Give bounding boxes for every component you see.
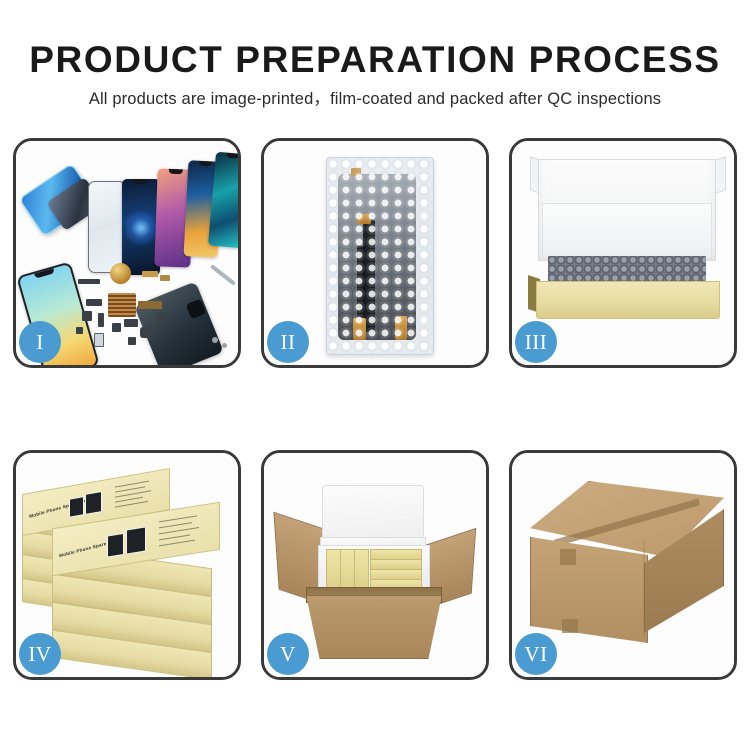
- process-step-panel-2[interactable]: II: [261, 138, 489, 368]
- tape-tab-icon: [560, 549, 576, 565]
- gold-contact-icon: [353, 318, 366, 340]
- step-badge-2: II: [267, 321, 309, 363]
- box-spec-line: [159, 527, 199, 534]
- process-step-panel-6[interactable]: VI: [509, 450, 737, 680]
- component-icon: [86, 299, 102, 306]
- kraft-box-front-icon: [536, 281, 720, 319]
- carton-front-face-icon: [530, 537, 648, 643]
- step-badge-3: III: [515, 321, 557, 363]
- box-screen-thumbnail: [85, 491, 102, 515]
- gold-contact-icon: [357, 214, 371, 224]
- component-icon: [156, 313, 165, 322]
- step-badge-4: IV: [19, 633, 61, 675]
- tempered-glass-icon: [88, 181, 126, 273]
- carton-seam-icon: [643, 541, 645, 637]
- component-icon: [142, 271, 158, 277]
- box-spec-line: [159, 534, 190, 540]
- box-screen-thumbnail: [69, 496, 84, 518]
- step-badge-1: I: [19, 321, 61, 363]
- component-icon: [94, 333, 104, 347]
- tape-mark-icon: [351, 168, 361, 176]
- component-icon: [98, 313, 104, 327]
- component-icon: [160, 275, 170, 281]
- screw-icon: [222, 343, 227, 348]
- connector-chip-icon: [108, 293, 136, 317]
- phone-notch-icon: [199, 161, 212, 167]
- component-icon: [112, 323, 121, 332]
- tweezers-icon: [210, 264, 236, 286]
- white-foam-sheet-icon: [542, 203, 712, 259]
- box-spec-line: [115, 501, 148, 508]
- screw-icon: [212, 337, 218, 343]
- component-icon: [124, 319, 138, 327]
- vibration-motor-icon: [110, 263, 131, 284]
- box-spec-line: [159, 522, 192, 528]
- process-step-panel-3[interactable]: III: [509, 138, 737, 368]
- process-step-panel-4[interactable]: Mobile Phone Spare Parts Mobile Phone S: [13, 450, 241, 680]
- process-step-panel-1[interactable]: I: [13, 138, 241, 368]
- kraft-box-inside-icon: [340, 549, 355, 589]
- page-title: PRODUCT PREPARATION PROCESS: [0, 38, 750, 82]
- component-icon: [78, 279, 100, 284]
- box-screen-thumbnail: [126, 526, 146, 554]
- phone-notch-icon: [134, 179, 148, 184]
- gold-contact-icon: [395, 316, 407, 340]
- bubble-wrap-bag-icon: [326, 157, 434, 355]
- page-header: PRODUCT PREPARATION PROCESS All products…: [0, 0, 750, 126]
- phone-notch-icon: [34, 268, 54, 278]
- phone-notch-icon: [169, 169, 183, 174]
- box-spec-line: [159, 540, 195, 547]
- tape-tab-icon: [562, 619, 578, 633]
- grey-bubble-wrap-icon: [548, 256, 706, 282]
- kraft-box-inside-icon: [326, 549, 341, 589]
- carton-front-icon: [306, 595, 442, 659]
- process-step-panel-5[interactable]: V: [261, 450, 489, 680]
- component-icon: [138, 301, 162, 309]
- step-badge-5: V: [267, 633, 309, 675]
- component-icon: [128, 337, 136, 345]
- page-subtitle: All products are image-printed，film-coat…: [0, 88, 750, 110]
- phone-back-housing-icon: [134, 281, 224, 365]
- process-step-grid: I II: [13, 138, 737, 680]
- component-icon: [82, 311, 92, 321]
- kraft-box-inside-icon: [354, 549, 369, 589]
- step-badge-6: VI: [515, 633, 557, 675]
- phone-notch-icon: [226, 153, 238, 159]
- component-icon: [140, 327, 151, 338]
- box-screen-thumbnail: [107, 533, 124, 558]
- component-icon: [76, 327, 83, 334]
